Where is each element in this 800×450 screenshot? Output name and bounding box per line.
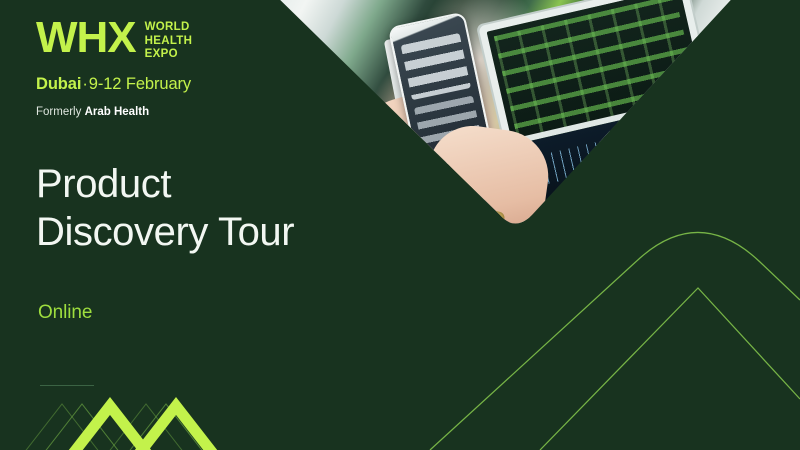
chevron-solid-right [134, 406, 218, 450]
formerly-line: Formerly Arab Health [36, 105, 192, 119]
brand-lockup: WHX WORLD HEALTH EXPO Dubai·9-12 Februar… [36, 16, 192, 119]
whx-chevron-mark-icon [10, 388, 240, 450]
event-format-label: Online [38, 301, 92, 325]
separator-dot: · [81, 75, 88, 93]
promo-poster: WHX WORLD HEALTH EXPO Dubai·9-12 Februar… [0, 0, 800, 450]
event-city: Dubai [36, 75, 81, 93]
chevron-outline-icon [540, 288, 800, 450]
logo-row: WHX WORLD HEALTH EXPO [36, 16, 192, 62]
chevron-outline-icon [430, 232, 800, 450]
event-location-dates: Dubai·9-12 February [36, 75, 192, 94]
page-title: Product Discovery Tour [36, 160, 294, 256]
formerly-prefix: Formerly [36, 106, 81, 118]
whx-expansion: WORLD HEALTH EXPO [145, 16, 193, 62]
logo-subtitle-line-1: WORLD [145, 21, 193, 35]
divider-rule [40, 385, 94, 386]
headline-line-2: Discovery Tour [36, 208, 294, 256]
formerly-brand-name: Arab Health [85, 106, 150, 118]
logo-subtitle-line-3: EXPO [145, 48, 193, 62]
logo-subtitle-line-2: HEALTH [145, 35, 193, 49]
headline-line-1: Product [36, 160, 294, 208]
event-dates: 9-12 February [89, 75, 191, 93]
whx-wordmark: WHX [36, 16, 136, 60]
